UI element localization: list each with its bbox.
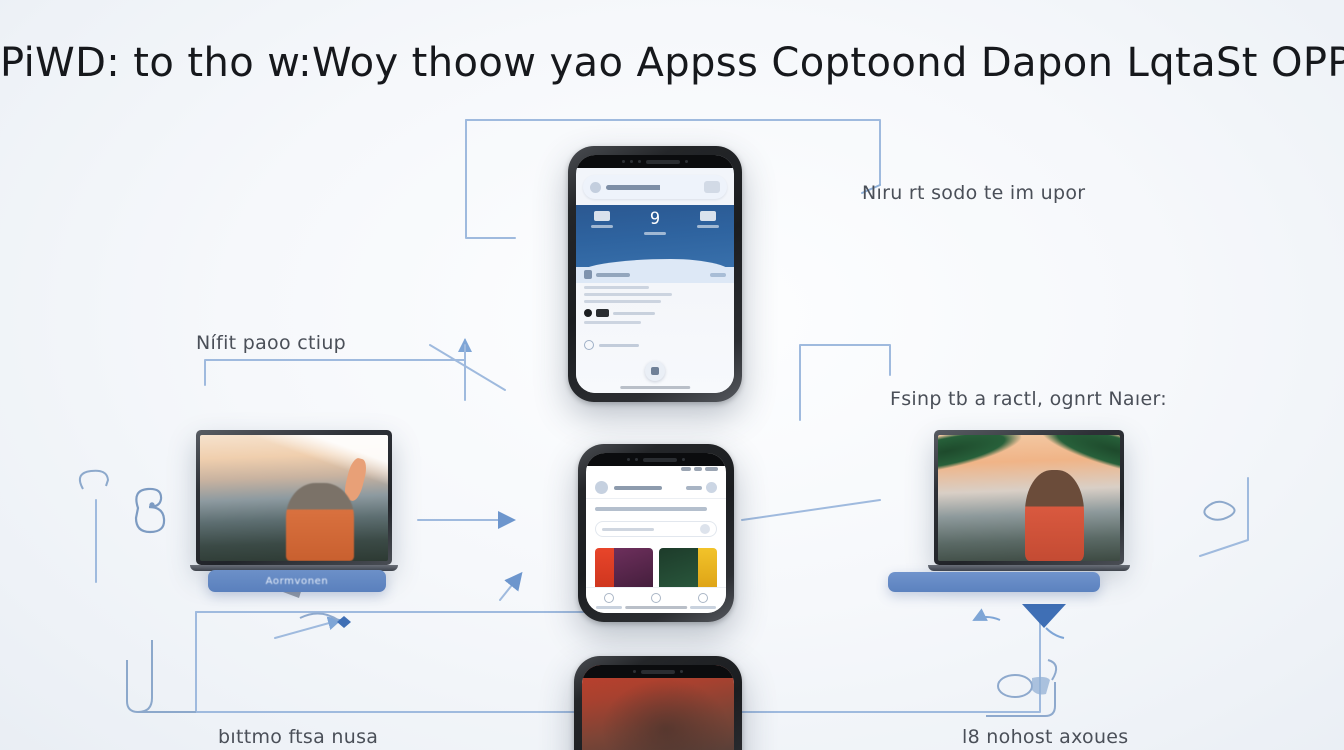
avatar[interactable] [704, 181, 720, 193]
connector-node [337, 616, 351, 628]
search-input[interactable] [595, 521, 717, 537]
caption-text: Aormvonen [266, 576, 329, 587]
doodle-glasses-icon [986, 660, 1056, 716]
bottom-tab-bar [586, 587, 726, 613]
laptop-left-lid [196, 430, 392, 565]
input-placeholder [602, 528, 654, 531]
hero-tile-1[interactable] [576, 211, 629, 251]
phone-mockup-top[interactable]: 9 [568, 146, 742, 402]
list-item[interactable] [584, 293, 672, 296]
annotation-label-bottom-left: bıttmo ftsa nusa [218, 726, 378, 748]
phone-top-screen[interactable]: 9 [576, 155, 734, 393]
app-header-avatar[interactable] [706, 482, 717, 493]
chip-icon-a [584, 309, 592, 317]
footer-row [576, 324, 734, 350]
search-placeholder-text [606, 185, 699, 190]
home-indicator [625, 606, 687, 609]
chip-icon-b [596, 309, 609, 317]
wallpaper-palm [938, 435, 1120, 561]
app-header [586, 477, 726, 499]
tab-item-2[interactable] [633, 588, 680, 613]
list-item[interactable] [584, 286, 649, 289]
chip-row [576, 303, 734, 317]
tile-icon-1 [594, 211, 610, 221]
photo-frond-right [1037, 435, 1120, 471]
laptop-right-screen[interactable] [938, 435, 1120, 561]
chip-label [613, 312, 655, 315]
annotation-label-top-right: Nıru rt sodo te im upor [862, 182, 1085, 204]
tab-item-1[interactable] [586, 588, 633, 613]
app-header-action[interactable] [686, 486, 702, 490]
app-header-title [614, 486, 662, 490]
status-indicators [681, 467, 718, 471]
diagram-canvas: PiWD: to tho w:Woy thoow yao Appss Copto… [0, 0, 1344, 750]
laptop-left-screen[interactable] [200, 435, 388, 561]
search-bar[interactable] [583, 175, 727, 199]
laptop-right-lid [934, 430, 1124, 565]
photo-person [1025, 470, 1083, 561]
status-bar-middle [586, 453, 726, 466]
photo-figure [286, 483, 354, 561]
section-header [576, 267, 734, 279]
footer-icon [584, 340, 594, 350]
footer-label [599, 344, 639, 347]
doodle-j-hook-icon [127, 640, 196, 712]
photo-frond-left [938, 435, 1024, 471]
hero-panel: 9 [576, 205, 734, 273]
laptop-mockup-right[interactable] [934, 430, 1124, 571]
section-title-text [596, 273, 630, 277]
doodle-b-shape-icon [136, 489, 164, 532]
phone-middle-screen[interactable] [586, 453, 726, 613]
hero-tile-3[interactable] [681, 211, 734, 251]
annotation-label-bottom-right: l8 nohost axoues [962, 726, 1129, 748]
app-body [586, 499, 726, 587]
laptop-right-base [928, 565, 1130, 571]
tab-item-3[interactable] [679, 588, 726, 613]
caption-bar-right[interactable] [888, 572, 1100, 592]
doodle-lamp-icon [80, 471, 108, 489]
content-section [576, 267, 734, 393]
doodle-arrow-fill-icon [974, 604, 1066, 638]
home-indicator [620, 386, 690, 389]
doodle-pebble-icon [1204, 502, 1234, 520]
caption-bar-left[interactable]: Aormvonen [208, 570, 386, 592]
submit-icon[interactable] [700, 524, 710, 534]
list-item[interactable] [584, 321, 641, 324]
section-icon [584, 270, 592, 279]
annotation-label-mid-right: Fsinp tb a ractl, ognrt Naıer: [890, 388, 1167, 410]
app-logo-icon [595, 481, 608, 494]
status-bar-top [576, 155, 734, 168]
page-title: PiWD: to tho w:Woy thoow yao Appss Copto… [0, 40, 1344, 86]
wallpaper-sunset [200, 435, 388, 561]
laptop-mockup-left[interactable] [196, 430, 392, 571]
mic-fab-button[interactable] [645, 361, 665, 381]
body-text-line [595, 507, 707, 511]
hero-tile-2[interactable]: 9 [629, 211, 682, 251]
list-rows [576, 279, 734, 303]
phone-mockup-middle[interactable] [578, 444, 734, 622]
list-item[interactable] [584, 300, 661, 303]
status-bar-bottom [582, 665, 734, 678]
phone-bottom-screen[interactable] [582, 665, 734, 750]
annotation-label-mid-left: Nífit paoo ctiup [196, 332, 346, 354]
phone-mockup-bottom[interactable] [574, 656, 742, 750]
tile-icon-3 [700, 211, 716, 221]
search-icon [590, 182, 601, 193]
section-action-link[interactable] [710, 273, 726, 277]
hero-stat-value: 9 [650, 211, 660, 228]
